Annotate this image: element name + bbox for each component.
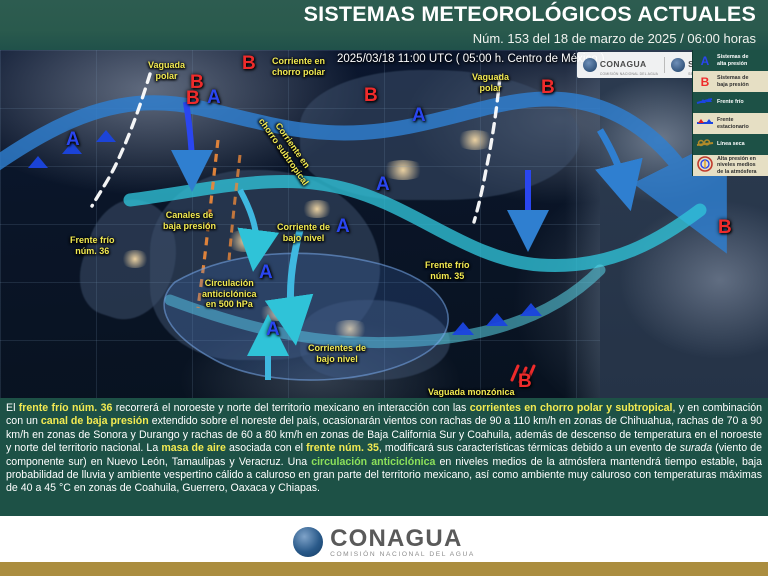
low-pressure-symbol: B (364, 86, 378, 105)
legend-item: Frente frío (693, 92, 768, 113)
dry-line-icon (696, 138, 714, 152)
low-pressure-symbol: B (718, 218, 732, 237)
letter-b: B (696, 75, 714, 89)
stationary-front-icon (696, 117, 714, 131)
legend-item: Frente estacionario (693, 113, 768, 134)
conagua-mark-icon (583, 58, 597, 72)
conagua-logo-text: CONAGUA (600, 59, 647, 69)
highlight-low-pressure-canal: canal de baja presión (41, 415, 149, 427)
legend-item-label: Frente estacionario (717, 117, 749, 130)
satellite-weather-map[interactable]: 2025/03/18 11:00 UTC ( 05:00 h. Centro d… (0, 50, 768, 398)
footer-conagua-logo: CONAGUA COMISIÓN NACIONAL DEL AGUA (293, 527, 475, 558)
text-seg: , modificará sus características térmica… (379, 442, 680, 454)
legend-item-label: Frente frío (717, 99, 744, 105)
legend-item-label: Alta presión en niveles medios de la atm… (717, 156, 757, 175)
footer-logo-name: CONAGUA (330, 527, 475, 551)
legend-item: Alta presión en niveles medios de la atm… (693, 155, 768, 176)
logo-divider (664, 57, 665, 73)
legend-item: BSistemas de baja presión (693, 71, 768, 92)
conagua-logo-subtext: COMISIÓN NACIONAL DEL AGUA (600, 72, 658, 76)
legend-item-label: Línea seca (717, 141, 745, 147)
smn-mark-icon (671, 58, 685, 72)
footer-logo-sub: COMISIÓN NACIONAL DEL AGUA (330, 551, 475, 558)
map-timestamp: 2025/03/18 11:00 UTC ( 05:00 h. Centro d… (337, 53, 605, 65)
text-seg: asociada con el (226, 442, 306, 454)
highlight-anticyclonic-circulation: circulación anticiclónica (311, 456, 435, 468)
low-pressure-symbol: B (541, 78, 555, 97)
high-pressure-symbol: A (412, 106, 426, 125)
highlight-front-36: frente frío núm. 36 (19, 402, 113, 414)
legend-item-label: Sistemas de baja presión (717, 75, 749, 88)
low-pressure-symbol: B (242, 54, 256, 73)
page-footer: CONAGUA COMISIÓN NACIONAL DEL AGUA (0, 516, 768, 576)
conagua-logo: CONAGUA COMISIÓN NACIONAL DEL AGUA (583, 54, 658, 76)
high-pressure-symbol: A (207, 88, 221, 107)
high-pressure-symbol: A (66, 130, 80, 149)
legend-item: ASistemas de alta presión (693, 50, 768, 71)
legend-item-label: Sistemas de alta presión (717, 54, 748, 67)
legend-rows: ASistemas de alta presiónBSistemas de ba… (693, 50, 768, 176)
weather-bulletin-page: SISTEMAS METEOROLÓGICOS ACTUALES Núm. 15… (0, 0, 768, 576)
cold-front-icon (696, 96, 714, 110)
page-header: SISTEMAS METEOROLÓGICOS ACTUALES Núm. 15… (0, 0, 768, 50)
page-title: SISTEMAS METEOROLÓGICOS ACTUALES (304, 2, 756, 27)
highlight-air-mass: masa de aire (161, 442, 226, 454)
legend-item: Línea seca (693, 134, 768, 155)
high-pressure-symbol: A (259, 263, 273, 282)
high-pressure-symbol: A (266, 320, 280, 339)
text-seg: recorrerá el noroeste y norte del territ… (112, 402, 469, 414)
map-legend: ASistemas de alta presiónBSistemas de ba… (692, 50, 768, 176)
letter-a: A (696, 54, 714, 68)
high-pressure-symbol: A (336, 217, 350, 236)
bulletin-number-date: Núm. 153 del 18 de marzo de 2025 / 06:00… (473, 31, 756, 46)
footer-gold-bar (0, 562, 768, 576)
highlight-jet-streams: corrientes en chorro polar y subtropical (470, 402, 673, 414)
flow-overlay (0, 50, 768, 398)
conagua-eagle-water-icon (293, 527, 323, 557)
low-pressure-symbol: B (186, 89, 200, 108)
forecast-discussion: El frente frío núm. 36 recorrerá el noro… (0, 398, 768, 516)
low-pressure-symbol: B (518, 372, 532, 391)
high-pressure-mid-levels-icon (696, 156, 714, 175)
text-seg: El (6, 402, 19, 414)
highlight-front-35: frente núm. 35 (306, 442, 379, 454)
high-pressure-symbol: A (376, 175, 390, 194)
term-surada: surada (680, 442, 712, 454)
